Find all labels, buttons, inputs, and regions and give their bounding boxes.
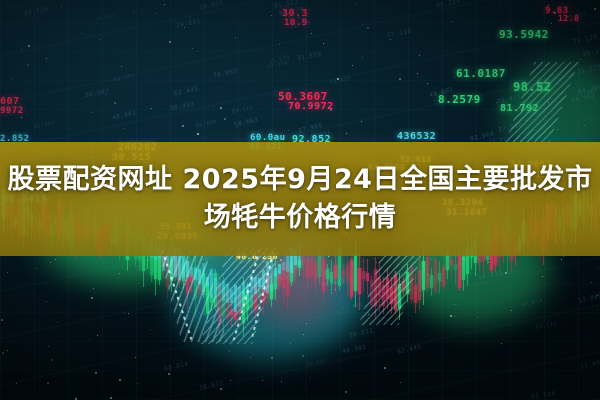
stock-banner-image: 41.62198.01491.55278.96362.44588.27013.8… bbox=[0, 0, 600, 400]
title-block: 股票配资网址 2025年9月24日全国主要批发市 场牦牛价格行情 bbox=[0, 142, 600, 256]
title-line-2: 场牦牛价格行情 bbox=[204, 200, 397, 236]
title-line-1: 股票配资网址 2025年9月24日全国主要批发市 bbox=[8, 162, 593, 198]
